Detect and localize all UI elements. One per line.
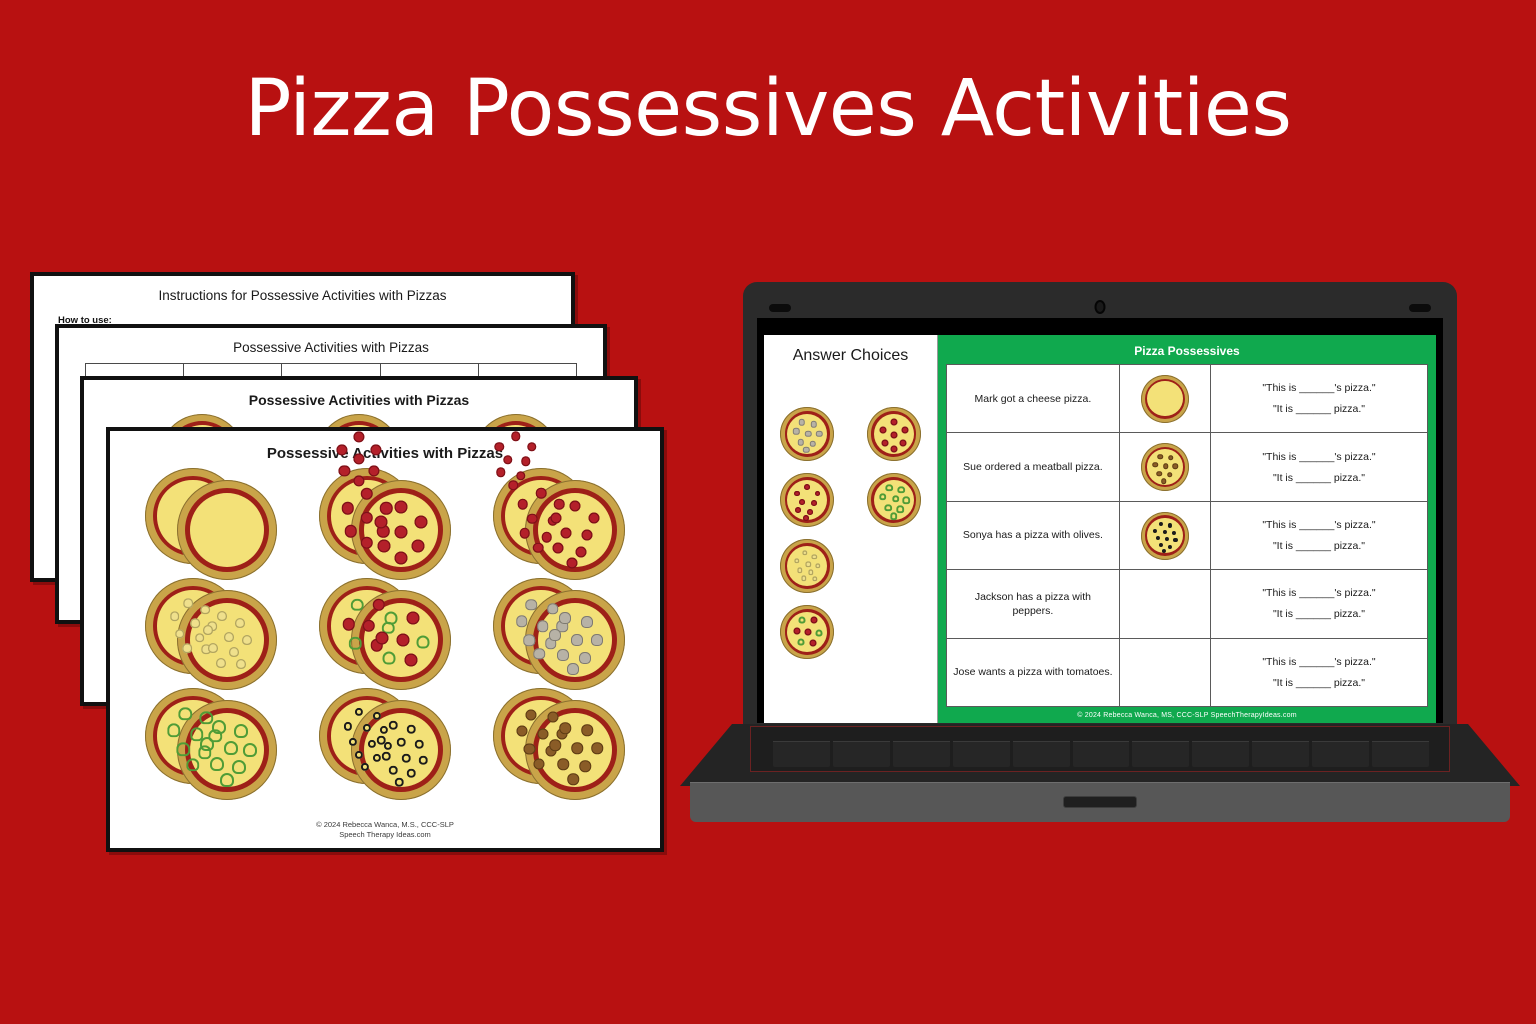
topping (579, 652, 591, 664)
topping (415, 740, 424, 749)
topping (810, 617, 817, 624)
pizza-pair (319, 578, 451, 686)
topping (567, 558, 578, 569)
topping (559, 612, 571, 624)
sentence-frames-cell: "This is ______'s pizza.""It is ______ p… (1211, 365, 1427, 432)
topping (561, 528, 572, 539)
sentence-frame-2: "It is ______ pizza." (1273, 677, 1365, 689)
pizza-pepper-icon (177, 700, 277, 800)
topping (881, 439, 888, 446)
topping (589, 513, 600, 524)
pizza-toppings (1141, 443, 1189, 491)
topping (571, 742, 583, 754)
topping (581, 724, 593, 736)
topping (886, 484, 894, 492)
pizza-toppings (780, 407, 834, 461)
sentence-frames-cell: "This is ______'s pizza.""It is ______ p… (1211, 570, 1427, 637)
topping (200, 737, 214, 751)
topping (243, 743, 257, 757)
pizza-pair (145, 688, 277, 796)
pizza-meatball-icon (525, 700, 625, 800)
keyboard-key (1073, 741, 1130, 767)
topping (879, 426, 886, 433)
topping (815, 563, 820, 568)
topping (1153, 462, 1159, 468)
bezel-tab-right-icon (1409, 304, 1431, 312)
topping (898, 486, 906, 494)
topping (382, 752, 391, 761)
topping (808, 570, 813, 575)
pizza-onion-icon (177, 590, 277, 690)
topping (235, 618, 245, 628)
pizza-toppings (351, 480, 451, 580)
topping (419, 756, 428, 765)
sentence-frame-2: "It is ______ pizza." (1273, 540, 1365, 552)
topping (890, 512, 898, 520)
topping (591, 634, 603, 646)
topping (885, 504, 893, 512)
topping (793, 428, 799, 434)
keyboard-key (833, 741, 890, 767)
pizza-pair (319, 468, 451, 576)
topping (353, 432, 364, 443)
pizza-meatball-icon (1141, 443, 1189, 491)
topping (224, 632, 234, 642)
sentence-frame-2: "It is ______ pizza." (1273, 608, 1365, 620)
pizza-pair (493, 468, 625, 576)
topping (816, 630, 823, 637)
pizza-pair (493, 578, 625, 686)
pizza-pair-grid (110, 462, 660, 796)
pizza-toppings (351, 700, 451, 800)
sentence-frames-cell: "This is ______'s pizza.""It is ______ p… (1211, 433, 1427, 500)
pizza-toppings (780, 473, 834, 527)
pizza-drop-cell[interactable] (1120, 570, 1211, 637)
laptop-front-edge (690, 782, 1510, 822)
topping (582, 530, 593, 541)
pizza-olive-icon (351, 700, 451, 800)
topping (1168, 545, 1172, 549)
topping (549, 629, 561, 641)
pizza-toppings (1141, 375, 1189, 423)
sentence-frame-2: "It is ______ pizza." (1273, 403, 1365, 415)
topping (890, 446, 897, 453)
topping (579, 760, 591, 772)
topping (377, 736, 386, 745)
pizza-toppings (177, 480, 277, 580)
topping (385, 612, 398, 625)
pizza-toppings (525, 590, 625, 690)
topping (812, 554, 817, 559)
topping (805, 628, 812, 635)
topping (1159, 521, 1163, 525)
topping (395, 778, 404, 787)
laptop-lid: Answer Choices Pizza Possessives Mark go… (743, 282, 1457, 737)
laptop-screen: Answer Choices Pizza Possessives Mark go… (757, 318, 1443, 723)
topping (405, 654, 418, 667)
topping (806, 562, 811, 567)
table-row: Mark got a cheese pizza."This is ______'… (947, 365, 1427, 433)
table-row: Jose wants a pizza with tomatoes."This i… (947, 639, 1427, 706)
topping (511, 432, 520, 441)
paper-footer-line-1: © 2024 Rebecca Wanca, M.S., CCC-SLP (110, 820, 660, 830)
instructions-sheet-title: Instructions for Possessive Activities w… (34, 276, 571, 303)
pizza-drop-cell[interactable] (1120, 365, 1211, 432)
topping (553, 543, 564, 554)
keyboard-key (1312, 741, 1369, 767)
sentence-frame-1: "This is ______'s pizza." (1262, 519, 1375, 531)
topping (521, 457, 530, 466)
topping (242, 635, 252, 645)
pizza-toppings (177, 590, 277, 690)
pizza-pepperoni-icon (351, 480, 451, 580)
topping (810, 421, 816, 427)
sentence-cell: Jose wants a pizza with tomatoes. (947, 639, 1120, 706)
how-to-use-label: How to use: (34, 303, 571, 326)
answer-choices-panel: Answer Choices (764, 335, 938, 723)
pizza-toppings (525, 480, 625, 580)
topping (216, 658, 226, 668)
topping (799, 419, 805, 425)
topping (1162, 549, 1166, 553)
printable-paper-stack: Instructions for Possessive Activities w… (0, 0, 700, 1024)
topping (1156, 536, 1160, 540)
pizza-drop-cell[interactable] (1120, 639, 1211, 706)
pizza-olive-icon (1141, 512, 1189, 560)
topping (797, 638, 804, 645)
keyboard-key (1132, 741, 1189, 767)
topping (503, 455, 512, 464)
answer-choice-pepper[interactable] (867, 473, 921, 527)
topping (210, 757, 224, 771)
topping (353, 453, 364, 464)
topping (1153, 529, 1157, 533)
topping (383, 652, 396, 665)
laptop-mockup: Answer Choices Pizza Possessives Mark go… (680, 282, 1520, 822)
topping (812, 576, 817, 581)
topping (229, 647, 239, 657)
keyboard-key (1252, 741, 1309, 767)
keyboard-key (1192, 741, 1249, 767)
topping (376, 632, 389, 645)
topping (402, 754, 411, 763)
topping (220, 773, 234, 787)
topping (559, 722, 571, 734)
topping (208, 643, 218, 653)
topping (793, 627, 800, 634)
paper-copyright-footer: © 2024 Rebecca Wanca, M.S., CCC-SLP Spee… (110, 820, 660, 840)
keyboard-key-row (773, 741, 1429, 767)
answer-choice-combo[interactable] (780, 605, 834, 659)
topping (798, 617, 805, 624)
answer-choices-grid (764, 407, 937, 659)
topping (809, 440, 815, 446)
topping (407, 769, 416, 778)
topping (1171, 531, 1175, 535)
topping (557, 758, 569, 770)
topping (371, 445, 382, 456)
topping (1165, 537, 1169, 541)
topping (395, 552, 408, 565)
topping (378, 540, 391, 553)
sentence-frame-1: "This is ______'s pizza." (1262, 382, 1375, 394)
keyboard-key (773, 741, 830, 767)
topping (389, 721, 398, 730)
topping (571, 634, 583, 646)
topping (802, 550, 807, 555)
topping (808, 509, 814, 515)
answer-choices-title: Answer Choices (764, 347, 937, 365)
pizza-pair (493, 688, 625, 796)
pizza-drop-cell[interactable] (1120, 433, 1211, 500)
keyboard-key (1372, 741, 1429, 767)
pizza-mushroom-icon (525, 590, 625, 690)
topping (395, 501, 408, 514)
paper-footer-line-2: Speech Therapy Ideas.com (110, 830, 660, 840)
pizza-cheese-icon (177, 480, 277, 580)
topping (1173, 463, 1179, 469)
topping (1173, 538, 1177, 542)
pizza-toppings (867, 473, 921, 527)
topping (336, 445, 347, 456)
pizza-toppings (867, 407, 921, 461)
topping (809, 639, 816, 646)
topping (395, 526, 408, 539)
topping (794, 491, 800, 497)
topping (804, 484, 810, 490)
topping (799, 499, 805, 505)
sentence-cell: Sue ordered a meatball pizza. (947, 433, 1120, 500)
topping (794, 558, 799, 563)
topping (1161, 478, 1167, 484)
sentence-frame-1: "This is ______'s pizza." (1262, 587, 1375, 599)
topping (879, 493, 887, 501)
topping (417, 636, 430, 649)
topping (557, 649, 569, 661)
topping (1168, 523, 1172, 527)
topping (397, 634, 410, 647)
table-row: Sonya has a pizza with olives."This is _… (947, 502, 1427, 570)
topping (567, 773, 579, 785)
pizza-tomato-icon (525, 480, 625, 580)
answer-choice-tomato[interactable] (780, 473, 834, 527)
pizza-possessives-table: Mark got a cheese pizza."This is ______'… (946, 364, 1428, 707)
pizza-pair (319, 688, 451, 796)
keyboard-key (893, 741, 950, 767)
topping (890, 432, 897, 439)
topping (890, 418, 897, 425)
topping (1159, 543, 1163, 547)
sentence-frame-1: "This is ______'s pizza." (1262, 656, 1375, 668)
topping (795, 507, 801, 513)
pizza-toppings (177, 700, 277, 800)
topping (567, 663, 579, 675)
topping (236, 659, 246, 669)
bezel-tab-left-icon (769, 304, 791, 312)
pizza-possessives-title: Pizza Possessives (946, 341, 1428, 364)
sentence-frame-2: "It is ______ pizza." (1273, 472, 1365, 484)
topping (217, 611, 227, 621)
sentence-cell: Jackson has a pizza with peppers. (947, 570, 1120, 637)
topping (576, 547, 587, 558)
topping (203, 625, 213, 635)
topping (892, 495, 900, 503)
topping (902, 496, 910, 504)
topping (1156, 471, 1162, 477)
topping (527, 442, 536, 451)
topping (797, 568, 802, 573)
topping (899, 439, 906, 446)
answer-choice-empty-slot (867, 539, 921, 593)
webcam-icon (1095, 300, 1106, 314)
pizza-possessives-panel: Pizza Possessives Mark got a cheese pizz… (938, 335, 1436, 723)
topping (901, 426, 908, 433)
topping (570, 501, 581, 512)
topping (415, 516, 428, 529)
topping (412, 540, 425, 553)
sentence-cell: Sonya has a pizza with olives. (947, 502, 1120, 569)
topping (375, 516, 388, 529)
topping (801, 576, 806, 581)
topping (815, 491, 821, 497)
topping (896, 505, 904, 513)
table-sheet-title: Possessive Activities with Pizzas (59, 328, 603, 355)
topping (1168, 455, 1174, 461)
topping (212, 720, 226, 734)
topping (407, 725, 416, 734)
topping (232, 760, 246, 774)
laptop-keyboard-deck (750, 726, 1450, 772)
topping (224, 741, 238, 755)
pizza-toppings (780, 605, 834, 659)
topping (811, 500, 817, 506)
answer-choice-onion[interactable] (780, 539, 834, 593)
topping (551, 513, 562, 524)
topping (389, 766, 398, 775)
topping (803, 515, 809, 521)
sentence-frame-1: "This is ______'s pizza." (1262, 451, 1375, 463)
topping (581, 616, 593, 628)
keyboard-key (953, 741, 1010, 767)
topping (549, 739, 561, 751)
sentence-frames-cell: "This is ______'s pizza.""It is ______ p… (1211, 639, 1427, 706)
pizza-toppings (1141, 512, 1189, 560)
keyboard-key (1013, 741, 1070, 767)
pizza-cheese-icon (1141, 375, 1189, 423)
pizza-sheet-back-title: Possessive Activities with Pizzas (84, 380, 634, 408)
slide-copyright-footer: © 2024 Rebecca Wanca, MS, CCC-SLP Speech… (946, 707, 1428, 723)
topping (1163, 530, 1167, 534)
sentence-frames-cell: "This is ______'s pizza.""It is ______ p… (1211, 502, 1427, 569)
topping (805, 431, 811, 437)
topping (234, 724, 248, 738)
topping (1157, 454, 1163, 460)
pizza-sheet-front: Possessive Activities with Pizzas © 2024… (106, 427, 664, 852)
topping (397, 738, 406, 747)
topping (803, 446, 809, 452)
pizza-toppings (525, 700, 625, 800)
pizza-combo-icon (351, 590, 451, 690)
pizza-pair (145, 578, 277, 686)
topping (816, 431, 822, 437)
answer-choice-pepperoni[interactable] (867, 407, 921, 461)
pizza-toppings (351, 590, 451, 690)
pizza-drop-cell[interactable] (1120, 502, 1211, 569)
topping (798, 439, 804, 445)
table-row: Jackson has a pizza with peppers."This i… (947, 570, 1427, 638)
table-row: Sue ordered a meatball pizza."This is __… (947, 433, 1427, 501)
answer-choice-mushroom[interactable] (780, 407, 834, 461)
topping (1167, 472, 1173, 478)
topping (1163, 463, 1169, 469)
sentence-cell: Mark got a cheese pizza. (947, 365, 1120, 432)
topping (495, 442, 504, 451)
pizza-toppings (780, 539, 834, 593)
laptop-latch-icon (1063, 796, 1137, 808)
pizza-pair (145, 468, 277, 576)
topping (407, 612, 420, 625)
presentation-slide: Answer Choices Pizza Possessives Mark go… (764, 335, 1436, 723)
topping (591, 742, 603, 754)
